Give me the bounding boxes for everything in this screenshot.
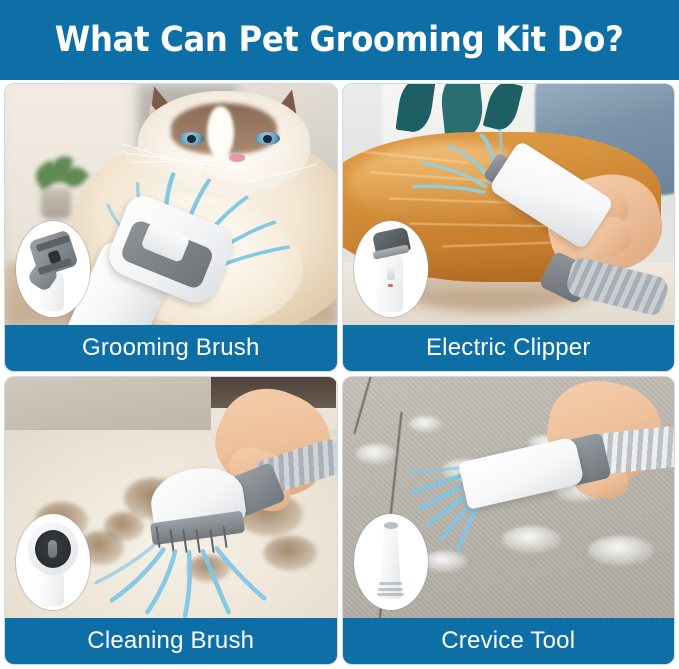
label-bar-cleaning-brush: Cleaning Brush: [5, 618, 337, 664]
label-bar-grooming-brush: Grooming Brush: [5, 325, 337, 371]
panel-label: Crevice Tool: [441, 627, 575, 655]
panel-label: Grooming Brush: [82, 334, 260, 362]
feature-grid: Grooming Brush: [0, 80, 679, 669]
panel-label: Electric Clipper: [426, 334, 591, 362]
inset-electric-clipper: [354, 221, 428, 317]
photo-crevice-tool: [343, 377, 675, 618]
feature-panel-grooming-brush[interactable]: Grooming Brush: [5, 84, 337, 371]
feature-panel-electric-clipper[interactable]: Electric Clipper: [343, 84, 675, 371]
inset-grooming-brush: [16, 221, 90, 317]
inset-crevice-tool: [354, 514, 428, 610]
feature-panel-cleaning-brush[interactable]: Cleaning Brush: [5, 377, 337, 664]
page-title: What Can Pet Grooming Kit Do?: [55, 20, 624, 60]
label-bar-electric-clipper: Electric Clipper: [343, 325, 675, 371]
header-banner: What Can Pet Grooming Kit Do?: [0, 0, 679, 80]
photo-cleaning-brush: [5, 377, 337, 618]
inset-cleaning-brush: [16, 514, 90, 610]
feature-panel-crevice-tool[interactable]: Crevice Tool: [343, 377, 675, 664]
photo-grooming-brush: [5, 84, 337, 325]
panel-label: Cleaning Brush: [87, 627, 254, 655]
label-bar-crevice-tool: Crevice Tool: [343, 618, 675, 664]
photo-electric-clipper: [343, 84, 675, 325]
